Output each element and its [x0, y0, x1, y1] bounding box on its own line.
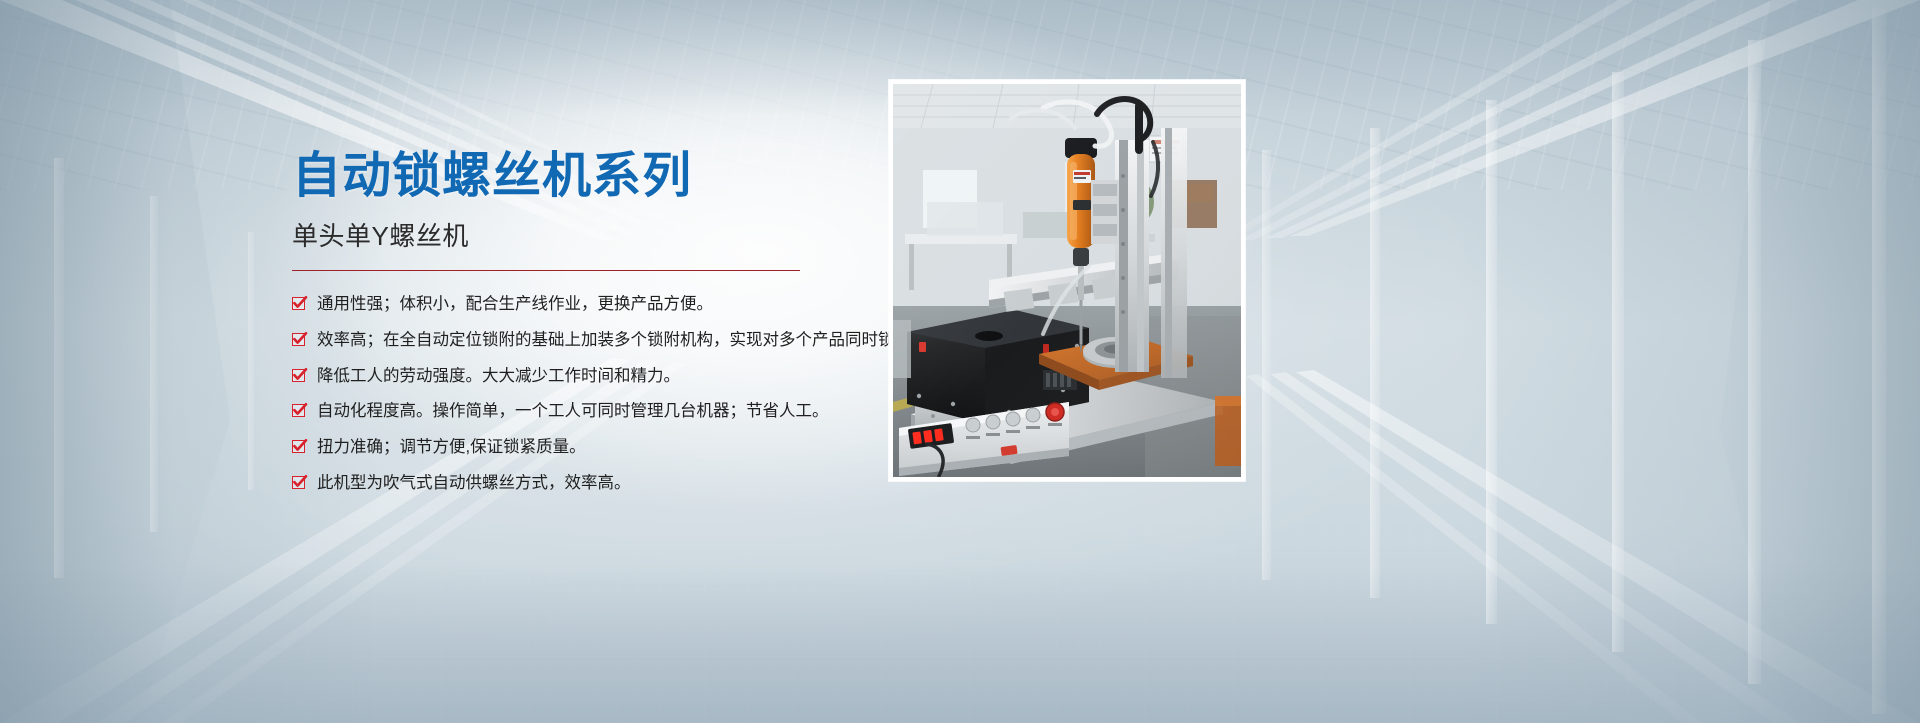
list-item: 此机型为吹气式自动供螺丝方式，效率高。: [292, 474, 892, 494]
automatic-screw-locking-machine-photo: [893, 84, 1241, 477]
list-item-label: 降低工人的劳动强度。大大减少工作时间和精力。: [317, 367, 680, 387]
list-item: 降低工人的劳动强度。大大减少工作时间和精力。: [292, 367, 892, 387]
title-divider: [292, 270, 800, 271]
feature-list: 通用性强；体积小，配合生产线作业，更换产品方便。 效率高；在全自动定位锁附的基础…: [292, 295, 892, 494]
check-box-icon: [292, 333, 305, 346]
banner-content: 自动锁螺丝机系列 单头单Y螺丝机 通用性强；体积小，配合生产线作业，更换产品方便…: [292, 150, 892, 494]
page-subtitle: 单头单Y螺丝机: [292, 221, 892, 252]
list-item: 效率高；在全自动定位锁附的基础上加装多个锁附机构，实现对多个产品同时锁附。: [292, 331, 892, 351]
check-box-icon: [292, 440, 305, 453]
check-box-icon: [292, 404, 305, 417]
list-item-label: 扭力准确；调节方便,保证锁紧质量。: [317, 438, 586, 458]
list-item-label: 此机型为吹气式自动供螺丝方式，效率高。: [317, 474, 631, 494]
check-box-icon: [292, 297, 305, 310]
product-banner: 自动锁螺丝机系列 单头单Y螺丝机 通用性强；体积小，配合生产线作业，更换产品方便…: [0, 0, 1920, 723]
list-item-label: 通用性强；体积小，配合生产线作业，更换产品方便。: [317, 295, 713, 315]
list-item-label: 效率高；在全自动定位锁附的基础上加装多个锁附机构，实现对多个产品同时锁附。: [317, 331, 928, 351]
list-item-label: 自动化程度高。操作简单，一个工人可同时管理几台机器；节省人工。: [317, 402, 829, 422]
product-photo-frame: [889, 80, 1245, 481]
list-item: 自动化程度高。操作简单，一个工人可同时管理几台机器；节省人工。: [292, 402, 892, 422]
check-box-icon: [292, 476, 305, 489]
list-item: 扭力准确；调节方便,保证锁紧质量。: [292, 438, 892, 458]
list-item: 通用性强；体积小，配合生产线作业，更换产品方便。: [292, 295, 892, 315]
page-title: 自动锁螺丝机系列: [292, 150, 892, 203]
check-box-icon: [292, 369, 305, 382]
